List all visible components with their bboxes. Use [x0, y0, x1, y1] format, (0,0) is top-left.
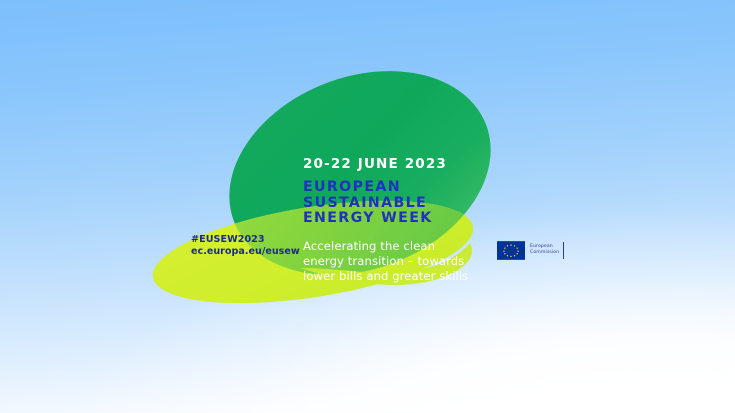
event-date: 20-22 JUNE 2023	[303, 156, 499, 172]
hashtag-block: #EUSEW2023 ec.europa.eu/eusew	[191, 234, 300, 257]
eu-logo-wordmark: European Commission	[530, 242, 564, 259]
hashtag-tag: #EUSEW2023	[191, 234, 265, 245]
headline-line-1: EUROPEAN SUSTAINABLE	[303, 179, 427, 211]
european-commission-logo: European Commission	[497, 240, 564, 260]
eu-logo-line-2: Commission	[530, 250, 559, 256]
hashtag-url[interactable]: ec.europa.eu/eusew	[191, 246, 300, 257]
copy-block: 20-22 JUNE 2023 EUROPEAN SUSTAINABLE ENE…	[303, 156, 499, 285]
event-tagline: Accelerating the clean energy transition…	[303, 239, 479, 285]
eu-flag-icon	[497, 241, 525, 260]
page-title: EUROPEAN SUSTAINABLE ENERGY WEEK	[303, 180, 503, 227]
headline-line-2: ENERGY WEEK	[303, 210, 433, 226]
eusew-banner: 20-22 JUNE 2023 EUROPEAN SUSTAINABLE ENE…	[0, 0, 735, 413]
